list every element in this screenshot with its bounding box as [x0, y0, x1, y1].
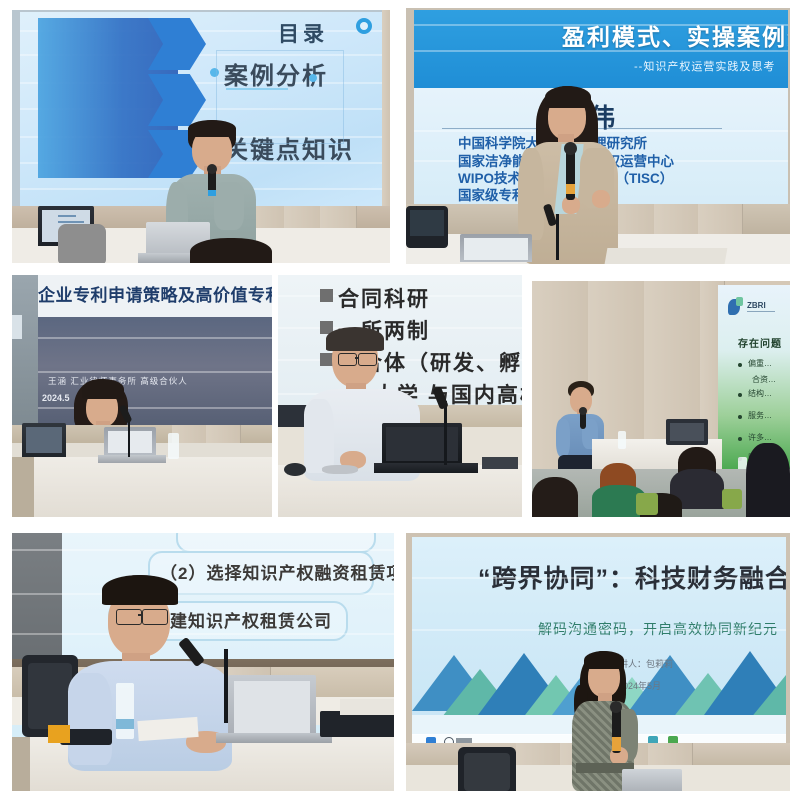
- display-screen: ZBRI 存在问题 偏重… 合资… 结构… 服务… 许多… 区域…: [718, 285, 790, 471]
- photo-bottom-right[interactable]: “跨界协同”：科技财务融合沟通术 解码沟通密码，开启高效协同新纪元 主讲人：包莉…: [406, 533, 790, 791]
- photo-top-right[interactable]: 盈利模式、实操案例分 --知识产权运营实践及思考 杜 伟 中国科学院大连化学物理…: [406, 8, 790, 264]
- photo-mid-left[interactable]: 企业专利申请策略及高价值专利挖 王涵 汇业律师事务所 高级合伙人 2024.5: [12, 275, 272, 517]
- audience-head: [532, 477, 578, 517]
- photo-top-left[interactable]: 目录 案例分析 关键点知识: [12, 10, 390, 263]
- slide-subtitle: --知识产权运营实践及思考: [634, 58, 775, 74]
- photo-bottom-left[interactable]: （2）选择知识产权融资租赁项目 建知识产权租赁公司: [12, 533, 394, 791]
- slide-bullet-1: 偏重…: [748, 358, 772, 369]
- water-bottle: [168, 433, 179, 459]
- slide-title: 盈利模式、实操案例分: [562, 18, 788, 52]
- photo-mid-center[interactable]: 合同科研 一所两制 联合体（研发、孵化、 大学 与国内高校方: [278, 275, 522, 517]
- slide-title: 存在问题: [738, 335, 782, 350]
- slide-logo-text: ZBRI: [747, 301, 766, 310]
- photo-mid-right[interactable]: ZBRI 存在问题 偏重… 合资… 结构… 服务… 许多… 区域…: [532, 281, 790, 517]
- water-bottle: [116, 683, 134, 739]
- slide-title: 目录: [278, 18, 328, 48]
- photo-collage: 目录 案例分析 关键点知识: [0, 0, 800, 800]
- audience-head: [746, 443, 790, 517]
- slide-bullet-4: 许多…: [748, 432, 772, 443]
- slide-title: 企业专利申请策略及高价值专利挖: [38, 281, 272, 306]
- slide-bullet-1: 合同科研: [338, 283, 430, 313]
- speaker-person: [518, 86, 648, 264]
- slide-subline: 合资…: [752, 374, 776, 385]
- glasses-icon: [338, 353, 357, 366]
- glasses-icon: [116, 609, 142, 625]
- slide-bullet-3: 服务…: [748, 410, 772, 421]
- slide-bullet-2: 结构…: [748, 388, 772, 399]
